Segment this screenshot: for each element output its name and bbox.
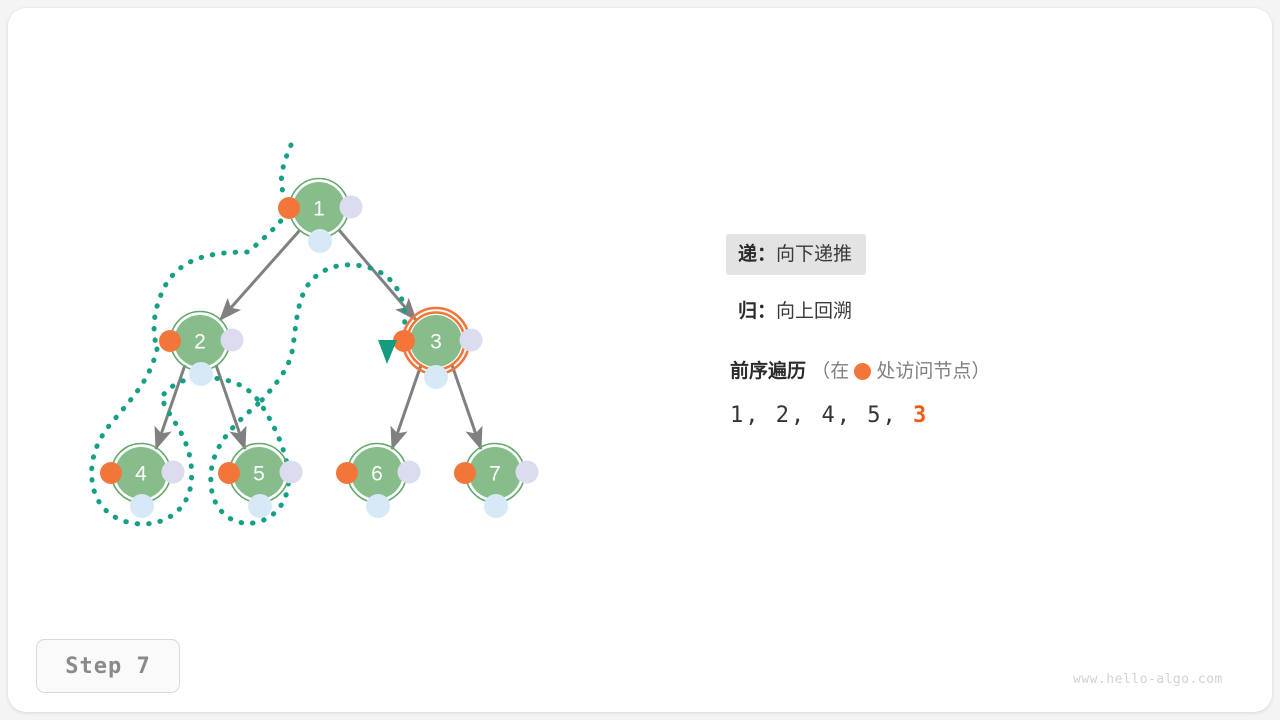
tree-node-3[interactable]: 3 — [378, 308, 483, 389]
node-4-visit-dot — [100, 462, 122, 484]
traversal-order-title: 前序遍历 （在处访问节点） — [730, 362, 1190, 381]
node-7-visit-dot — [454, 462, 476, 484]
edge-3-7 — [452, 365, 481, 449]
traversal-note-suffix: 处访问节点） — [876, 361, 990, 382]
legend-backtrack-text: 向上回溯 — [776, 301, 852, 322]
tree-node-4[interactable]: 4 — [100, 444, 185, 519]
legend-backtrack-keyword: 归： — [738, 301, 776, 322]
traversal-order-panel: 前序遍历 （在处访问节点） 1, 2, 4, 5, 3 — [730, 362, 1190, 428]
screenshot-canvas: 1 2 3 4 — [0, 0, 1280, 720]
traversal-order-current: 3 — [913, 403, 928, 428]
node-1-bottom-dot — [308, 229, 332, 253]
node-1-right-dot — [340, 196, 363, 219]
current-node-pointer-icon — [378, 340, 397, 364]
node-3-bottom-dot — [424, 365, 448, 389]
node-7-bottom-dot — [484, 494, 508, 518]
node-6-right-dot — [398, 461, 421, 484]
node-5-value: 5 — [253, 463, 265, 486]
node-5-visit-dot — [218, 462, 240, 484]
node-4-right-dot — [162, 461, 185, 484]
legend-recurse-highlight: 递：向下递推 — [726, 234, 866, 275]
legend-recurse-keyword: 递： — [738, 244, 776, 265]
legend-backtrack-row: 归：向上回溯 — [726, 291, 1176, 332]
node-5-bottom-dot — [248, 494, 272, 518]
step-label: Step 7 — [65, 654, 150, 679]
node-5-right-dot — [280, 461, 303, 484]
node-1-value: 1 — [313, 198, 325, 221]
traversal-type-label: 前序遍历 — [730, 361, 806, 382]
traversal-note-prefix: （在 — [811, 361, 849, 382]
edge-3-6 — [392, 365, 421, 449]
traversal-order-visited: 1, 2, 4, 5, — [730, 403, 913, 428]
visit-marker-icon — [854, 363, 871, 380]
node-7-value: 7 — [489, 463, 501, 486]
node-1-visit-dot — [278, 197, 300, 219]
node-3-right-dot — [460, 329, 483, 352]
edge-1-3 — [339, 230, 416, 320]
tree-node-5[interactable]: 5 — [218, 444, 303, 519]
legend-recurse-row: 递：向下递推 — [726, 234, 1176, 275]
node-2-value: 2 — [194, 331, 206, 354]
node-4-bottom-dot — [130, 494, 154, 518]
tree-node-2[interactable]: 2 — [159, 312, 244, 387]
path-back-up-to-right — [262, 265, 405, 400]
node-2-visit-dot — [159, 330, 181, 352]
path-root-enter — [281, 145, 291, 203]
site-watermark: www.hello-algo.com — [1073, 672, 1223, 687]
legend-recurse-text: 向下递推 — [776, 244, 852, 265]
node-2-bottom-dot — [189, 362, 213, 386]
node-2-right-dot — [221, 329, 244, 352]
node-3-value: 3 — [430, 331, 442, 354]
traversal-order-sequence: 1, 2, 4, 5, 3 — [730, 403, 1190, 428]
edge-1-2 — [220, 230, 300, 320]
node-6-visit-dot — [336, 462, 358, 484]
binary-tree-diagram: 1 2 3 4 — [0, 0, 1280, 720]
node-6-value: 6 — [371, 463, 383, 486]
tree-node-6[interactable]: 6 — [336, 444, 421, 519]
edge-2-5 — [216, 365, 245, 449]
node-6-bottom-dot — [366, 494, 390, 518]
tree-node-7[interactable]: 7 — [454, 444, 539, 519]
edge-2-4 — [156, 365, 185, 449]
node-4-value: 4 — [135, 463, 147, 486]
legend-panel: 递：向下递推 归：向上回溯 — [726, 234, 1176, 332]
node-7-right-dot — [516, 461, 539, 484]
legend-backtrack-wrapper: 归：向上回溯 — [726, 291, 866, 332]
step-badge: Step 7 — [36, 639, 180, 693]
